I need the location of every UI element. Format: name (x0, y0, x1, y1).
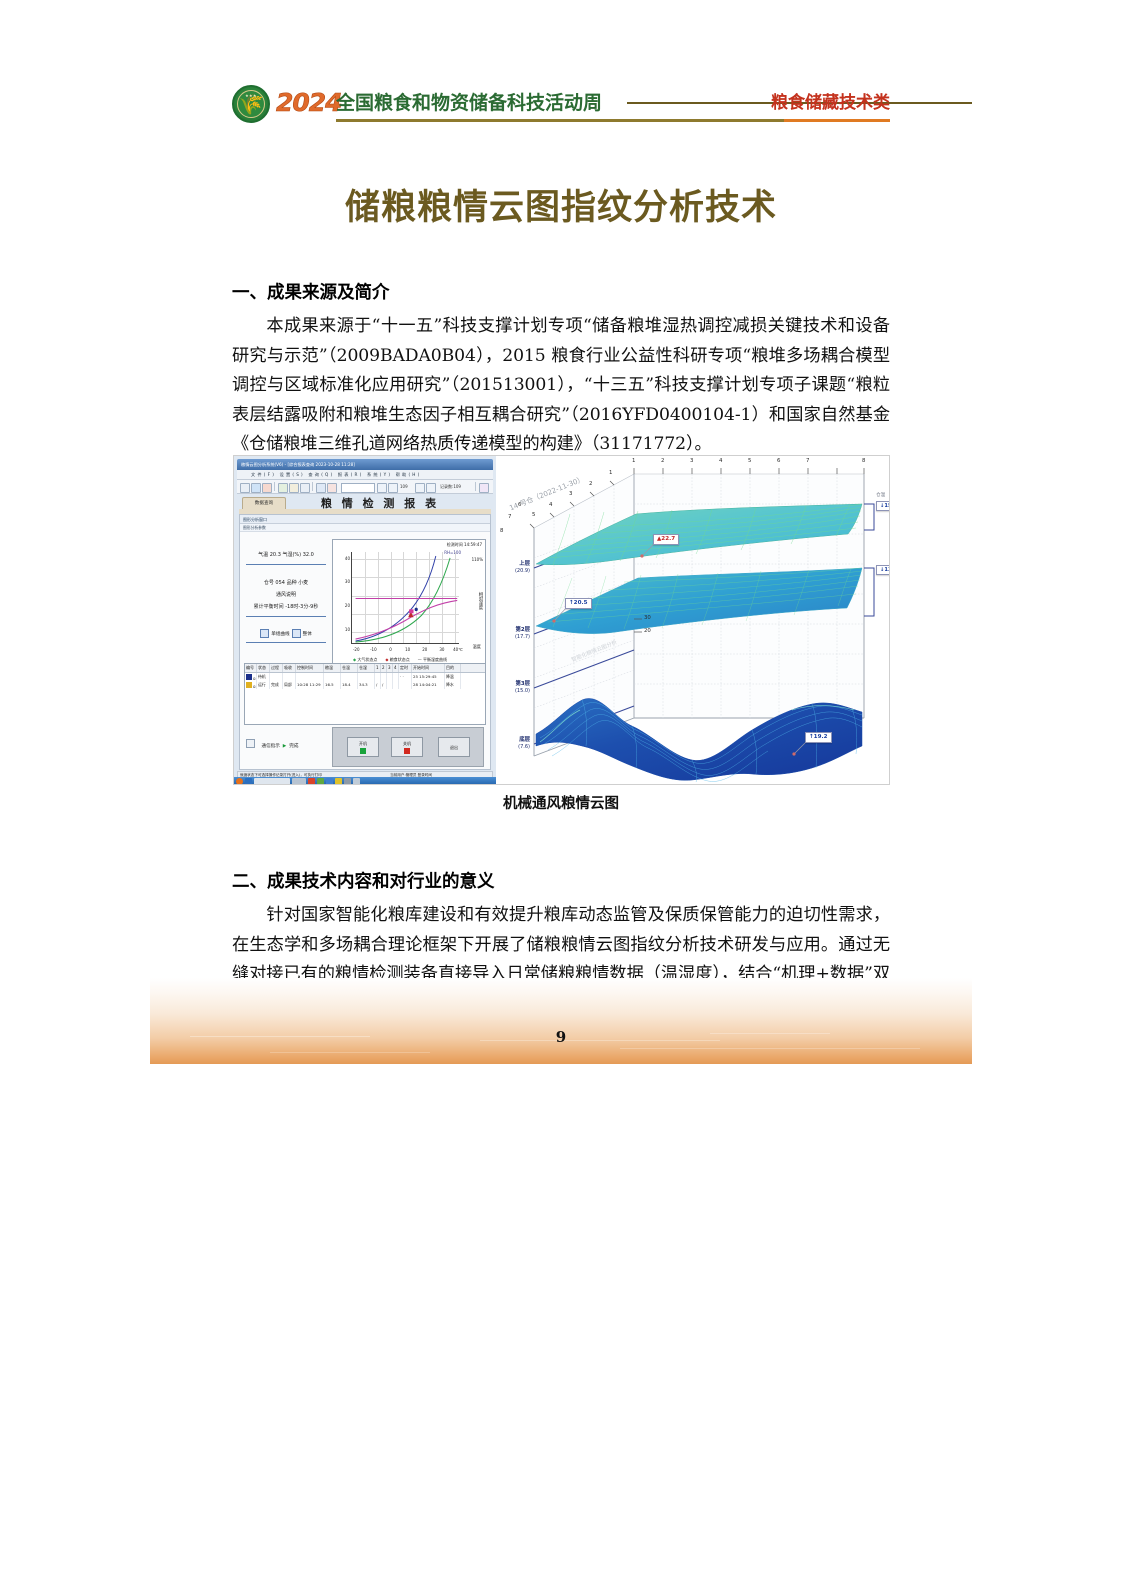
cell-0-2 (270, 673, 283, 681)
logo-arc-text: ★★★ (245, 93, 257, 98)
cell-1-1: 运行 (257, 681, 270, 689)
taskbar-ie-icon[interactable] (245, 778, 252, 785)
y-tick-3: 3 (569, 491, 572, 498)
curve-mode-radios[interactable]: 单组曲线 整体 (244, 629, 328, 638)
taskbar-excel-icon[interactable] (317, 778, 324, 785)
time-readout: 累计平衡时间 -18时-3分-9秒 (244, 603, 328, 612)
chart-ytick-3: 10 (338, 627, 350, 632)
table-row[interactable]: 053 待机 · · 25 15:29:45 (245, 673, 485, 681)
toolbar-combo-field[interactable] (341, 483, 375, 493)
table-col-14: 目的 (445, 664, 461, 672)
x-tick-8: 8 (862, 458, 865, 465)
chart-ytick-0: 40 (338, 556, 350, 561)
status-readout: 通风说明 (244, 591, 328, 600)
taskbar-app-item[interactable] (254, 778, 290, 785)
cell-1-6: 18.4 (341, 681, 358, 689)
close-button-label: 关机 (403, 741, 411, 746)
cell-1-3: 局部 (283, 681, 296, 689)
page-number: 9 (0, 1027, 1122, 1047)
document-page: 🌾 ★★★ 2024 全国粮食和物资储备科技活动周 粮食储藏技术类 储粮粮情云图… (0, 0, 1122, 1588)
env-readout: 气温 20.3 气湿(%) 32.0 (244, 551, 328, 560)
toolbar-next-icon[interactable] (415, 483, 425, 493)
bin-readout: 仓号 054 品种 小麦 (244, 579, 328, 588)
y-tick-8: 8 (500, 528, 503, 535)
cell-0-5 (324, 673, 341, 681)
chart-ytick-1: 30 (338, 579, 350, 584)
chart-xtick-1: -10 (370, 647, 377, 652)
panel-divider-3 (246, 642, 326, 643)
exit-button-label: 退出 (450, 745, 458, 750)
cell-0-13: 25 15:29:45 (412, 673, 445, 681)
radio-all-curves-label: 整体 (303, 631, 312, 637)
layer-label-2: 第2层 (17.7) (496, 627, 530, 641)
comm-status-icon (246, 739, 255, 748)
toolbar-separator (274, 482, 275, 491)
x-tick-4: 4 (719, 458, 722, 465)
toolbar-copy-icon[interactable] (289, 483, 299, 493)
chart-timestamp: 检测时间 14:59:47 (447, 542, 482, 548)
x-tick-7: 7 (806, 458, 809, 465)
toolbar-save-icon[interactable] (262, 483, 272, 493)
panel-divider-2 (246, 616, 326, 617)
chart-xtick-6: 40℃ (453, 647, 463, 652)
x-tick-2: 2 (661, 458, 664, 465)
section-heading-2: 二、成果技术内容和对行业的意义 (232, 870, 495, 894)
chart-y-axis-label: 相对湿度 (477, 592, 483, 610)
comm-status: 通信指示 ▶ 完成 (246, 739, 298, 749)
action-button-group: 开机 关机 退出 (332, 727, 484, 767)
toolbar-separator-2 (312, 482, 313, 491)
taskbar-item-7[interactable] (344, 778, 351, 785)
toolbar-open-icon[interactable] (251, 483, 261, 493)
x-tick-6: 6 (777, 458, 780, 465)
cell-0-1: 待机 (257, 673, 270, 681)
windows-taskbar[interactable] (234, 777, 496, 785)
open-led-icon (360, 748, 366, 754)
z-tick-30: 30 (644, 615, 651, 622)
chart-xtick-2: 0 (389, 647, 392, 652)
y-tick-7: 7 (508, 514, 511, 521)
exit-button[interactable]: 退出 (438, 737, 470, 757)
inner-window-subtitle: 图形分析参数 (240, 524, 490, 532)
section-body-1: 本成果来源于“十一五”科技支撑计划专项“储备粮堆湿热调控减损关键技术和设备研究与… (232, 312, 890, 460)
taskbar-item-8[interactable] (353, 778, 360, 785)
table-col-6: 仓温 (341, 664, 358, 672)
table-row[interactable]: 054 运行 完成 局部 10:28 11:29 16.5 18.4 34.3 … (245, 681, 485, 689)
layer-label-bottom: 底层 (7.6) (496, 737, 530, 751)
table-col-5: 粮温 (324, 664, 341, 672)
chart-x-axis-label: 温度 (473, 644, 481, 650)
right-value-1: ↓13.5 (876, 565, 889, 575)
table-col-2: 过程 (270, 664, 283, 672)
cell-0-7 (358, 673, 375, 681)
banner-rule-green (336, 119, 784, 122)
cell-1-2: 完成 (270, 681, 283, 689)
callout-bottom-peak: ↑19.2 (805, 732, 832, 743)
toolbar-cut-icon[interactable] (278, 483, 288, 493)
table-col-4: 控制时间 (296, 664, 324, 672)
chart-xtick-5: 30 (439, 647, 444, 652)
page-footer-gradient (150, 978, 972, 1064)
cell-1-5: 16.5 (324, 681, 341, 689)
toolbar-first-icon[interactable] (377, 483, 387, 493)
organization-logo-icon: 🌾 ★★★ (232, 85, 270, 123)
app-inner-window: 图形分析窗口 图形分析参数 气温 20.3 气湿(%) 32.0 仓号 054 … (239, 514, 491, 770)
banner-title: 全国粮食和物资储备科技活动周 (336, 90, 602, 116)
taskbar-folder-icon[interactable] (335, 778, 342, 785)
open-button-label: 开机 (359, 741, 367, 746)
page-title: 储粮粮情云图指纹分析技术 (0, 186, 1122, 230)
app-titlebar: 粮情云图分析系统(V6) - [综合报表查询 2023-10-28 11:28] (237, 459, 493, 470)
radio-single-curve-label: 单组曲线 (271, 631, 289, 637)
toolbar-preview-icon[interactable] (327, 483, 337, 493)
records-table[interactable]: 编号 状态 过程 吸收 控制时间 粮温 仓温 仓湿 1 2 3 4 定时 开始时… (244, 663, 486, 725)
cell-1-12 (399, 681, 412, 689)
chart-plot-area: 40 30 20 10 -20 -10 0 10 20 30 40℃ (351, 552, 459, 644)
cell-1-13: 28 14:04:21 (412, 681, 445, 689)
cell-1-14: 降水 (445, 681, 461, 689)
banner-category: 粮食储藏技术类 (771, 90, 890, 116)
callout-top-peak: ▲22.7 (653, 534, 679, 545)
cell-1-7: 34.3 (358, 681, 375, 689)
table-col-1: 状态 (257, 664, 270, 672)
open-button[interactable]: 开机 (347, 737, 379, 757)
toolbar-record-count: 记录数:109 (440, 482, 461, 491)
callout-mid-peak: ↑20.5 (565, 598, 592, 609)
page-header-banner: 🌾 ★★★ 2024 全国粮食和物资储备科技活动周 粮食储藏技术类 (232, 82, 890, 128)
cell-0-12: · · (399, 673, 412, 681)
section-heading-1: 一、成果来源及简介 (232, 281, 390, 305)
y-tick-4: 4 (549, 502, 552, 509)
chart-xtick-4: 20 (422, 647, 427, 652)
comm-status-value: 完成 (289, 744, 298, 749)
taskbar-item-2[interactable] (292, 778, 306, 785)
panel-divider-1 (246, 564, 326, 565)
radio-single-curve[interactable] (260, 629, 269, 638)
figure-image: 粮情云图分析系统(V6) - [综合报表查询 2023-10-28 11:28]… (233, 455, 890, 785)
grain-condition-3d-plot: 14 号仓（2022-11-30） 智能化粮情云图分析 1 2 3 4 5 6 … (496, 456, 889, 784)
toolbar-last-icon[interactable] (426, 483, 436, 493)
toolbar-paste-icon[interactable] (300, 483, 310, 493)
taskbar-word-icon[interactable] (326, 778, 333, 785)
toolbar-page-number: 109 (400, 482, 408, 491)
toolbar-separator-3 (475, 482, 476, 491)
toolbar-prev-icon[interactable] (388, 483, 398, 493)
table-col-7: 仓湿 (358, 664, 375, 672)
banner-rule-orange (784, 119, 890, 122)
cell-0-6 (341, 673, 358, 681)
y-tick-5: 5 (532, 512, 535, 519)
start-button-icon[interactable] (236, 778, 243, 785)
chart-xtick-0: -20 (353, 647, 360, 652)
y-tick-6: 6 (518, 502, 521, 509)
cell-0-14: 降温 (445, 673, 461, 681)
table-col-13: 开始时间 (412, 664, 445, 672)
app-menubar[interactable]: 文件(F) 设置(S) 查询(Q) 报表(R) 系统(Y) 帮助(H) (237, 470, 493, 480)
y-tick-1: 1 (609, 470, 612, 477)
cell-1-4: 10:28 11:29 (296, 681, 324, 689)
equilibrium-humidity-chart: 检测时间 14:59:47 RH=100 110% 相对湿度 温度 40 (332, 539, 486, 667)
layer-label-top: 上层 (20.9) (496, 561, 530, 575)
close-led-icon (404, 748, 410, 754)
chart-curves (352, 552, 459, 643)
table-col-12: 定时 (399, 664, 412, 672)
radio-all-curves[interactable] (292, 629, 301, 638)
x-tick-1: 1 (632, 458, 635, 465)
banner-year: 2024 (276, 88, 342, 118)
taskbar-pdf-icon[interactable] (308, 778, 315, 785)
app-window-screenshot: 粮情云图分析系统(V6) - [综合报表查询 2023-10-28 11:28]… (234, 456, 496, 785)
close-button[interactable]: 关机 (391, 737, 423, 757)
table-col-3: 吸收 (283, 664, 296, 672)
x-tick-3: 3 (690, 458, 693, 465)
toolbar-new-icon[interactable] (240, 483, 250, 493)
chart-ytick-2: 20 (338, 603, 350, 608)
right-label-name-0: 仓温 (876, 492, 885, 499)
right-value-0: ↓15.5 (876, 501, 889, 511)
z-tick-20: 20 (644, 628, 651, 635)
chart-rh-110: 110% (472, 557, 483, 562)
figure-caption: 机械通风粮情云图 (0, 794, 1122, 814)
y-tick-2: 2 (589, 481, 592, 488)
cell-0-4 (296, 673, 324, 681)
toolbar-print-icon[interactable] (316, 483, 326, 493)
chart-xtick-3: 10 (405, 647, 410, 652)
action-bar: 通信指示 ▶ 完成 开机 关机 (244, 727, 486, 765)
x-tick-5: 5 (748, 458, 751, 465)
comm-status-label: 通信指示 (261, 744, 279, 749)
toolbar-help-icon[interactable] (479, 483, 489, 493)
cell-0-3 (283, 673, 296, 681)
inner-window-title: 图形分析窗口 (240, 515, 490, 524)
app-toolbar[interactable]: 109 记录数:109 (237, 480, 493, 494)
layer-label-3: 第3层 (15.0) (496, 681, 530, 695)
table-col-0: 编号 (245, 664, 257, 672)
table-header-row: 编号 状态 过程 吸收 控制时间 粮温 仓温 仓湿 1 2 3 4 定时 开始时… (245, 664, 485, 673)
